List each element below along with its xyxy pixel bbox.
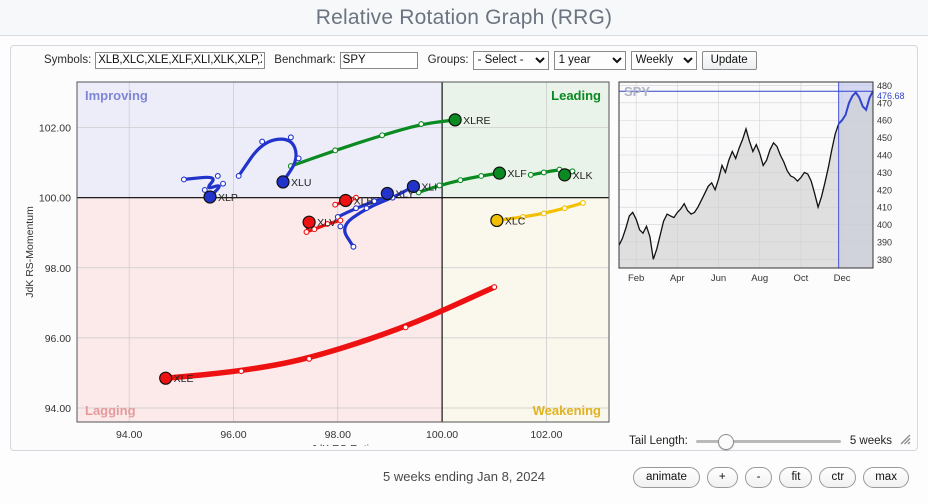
range-select[interactable]: 1 year	[554, 51, 626, 70]
series-label-xlk: XLK	[573, 170, 593, 182]
series-label-xli: XLI	[421, 181, 437, 193]
series-label-xly: XLY	[395, 188, 414, 200]
benchmark-label: Benchmark:	[274, 54, 335, 66]
tail-length-slider[interactable]	[696, 434, 841, 448]
spy-chart[interactable]: 480470460450440430420410400390380476.68F…	[615, 78, 911, 296]
svg-text:96.00: 96.00	[220, 429, 246, 441]
slider-knob[interactable]	[718, 434, 734, 450]
symbols-label: Symbols:	[44, 54, 91, 66]
svg-text:Weakening: Weakening	[533, 403, 601, 418]
svg-text:390: 390	[877, 237, 892, 247]
page-title: Relative Rotation Graph (RRG)	[316, 6, 612, 30]
svg-text:380: 380	[877, 255, 892, 265]
series-label-xlv: XLV	[317, 217, 336, 229]
rrg-chart[interactable]: LeadingImprovingLaggingWeakening94.0096.…	[19, 76, 611, 446]
svg-text:102.00: 102.00	[39, 123, 71, 135]
svg-text:430: 430	[877, 168, 892, 178]
svg-text:Apr: Apr	[670, 273, 685, 284]
svg-text:Aug: Aug	[751, 273, 768, 284]
svg-text:Jun: Jun	[711, 273, 726, 284]
svg-text:98.00: 98.00	[45, 263, 71, 275]
svg-text:Lagging: Lagging	[85, 403, 136, 418]
series-label-xlb: XLB	[354, 195, 374, 207]
symbols-input[interactable]	[95, 52, 265, 69]
svg-text:JdK RS-Ratio: JdK RS-Ratio	[311, 443, 375, 446]
footer-caption: 5 weeks ending Jan 8, 2024	[383, 469, 545, 484]
svg-text:Improving: Improving	[85, 88, 148, 103]
svg-text:96.00: 96.00	[45, 333, 71, 345]
groups-select[interactable]: - Select -	[473, 51, 549, 70]
series-label-xlp: XLP	[218, 192, 238, 204]
spy-symbol-label: SPY	[624, 84, 650, 99]
frequency-select[interactable]: Weekly	[631, 51, 697, 70]
svg-text:450: 450	[877, 133, 892, 143]
svg-text:Oct: Oct	[794, 273, 809, 284]
benchmark-input[interactable]	[340, 52, 418, 69]
title-bar: Relative Rotation Graph (RRG)	[0, 0, 928, 36]
main-panel: Symbols: Benchmark: Groups: - Select - 1…	[10, 45, 918, 451]
svg-text:480: 480	[877, 81, 892, 91]
rrg-app: Relative Rotation Graph (RRG) Symbols: B…	[0, 0, 928, 504]
resize-grip-icon[interactable]	[898, 432, 911, 445]
series-label-xlu: XLU	[291, 177, 311, 189]
svg-text:Feb: Feb	[628, 273, 644, 284]
toolbar: Symbols: Benchmark: Groups: - Select - 1…	[11, 46, 917, 74]
groups-label: Groups:	[428, 54, 469, 66]
svg-text:460: 460	[877, 116, 892, 126]
tail-length-label: Tail Length:	[629, 435, 688, 447]
svg-text:420: 420	[877, 185, 892, 195]
tail-length-row: Tail Length: 5 weeks	[629, 431, 919, 451]
svg-text:Leading: Leading	[551, 88, 601, 103]
svg-text:100.00: 100.00	[426, 429, 458, 441]
svg-text:400: 400	[877, 220, 892, 230]
svg-text:JdK RS-Momentum: JdK RS-Momentum	[24, 206, 36, 298]
svg-text:94.00: 94.00	[116, 429, 142, 441]
svg-text:94.00: 94.00	[45, 403, 71, 415]
tail-length-value: 5 weeks	[850, 435, 892, 447]
spy-last-value: 476.68	[877, 91, 905, 101]
series-label-xlf: XLF	[507, 168, 526, 180]
svg-text:102.00: 102.00	[530, 429, 562, 441]
svg-text:100.00: 100.00	[39, 193, 71, 205]
svg-text:410: 410	[877, 203, 892, 213]
svg-text:Dec: Dec	[834, 273, 851, 284]
series-label-xle: XLE	[174, 373, 194, 385]
svg-text:98.00: 98.00	[325, 429, 351, 441]
svg-text:440: 440	[877, 151, 892, 161]
series-label-xlre: XLRE	[463, 115, 490, 127]
update-button[interactable]: Update	[702, 51, 757, 70]
footer: 5 weeks ending Jan 8, 2024	[0, 455, 928, 495]
series-label-xlc: XLC	[505, 215, 526, 227]
